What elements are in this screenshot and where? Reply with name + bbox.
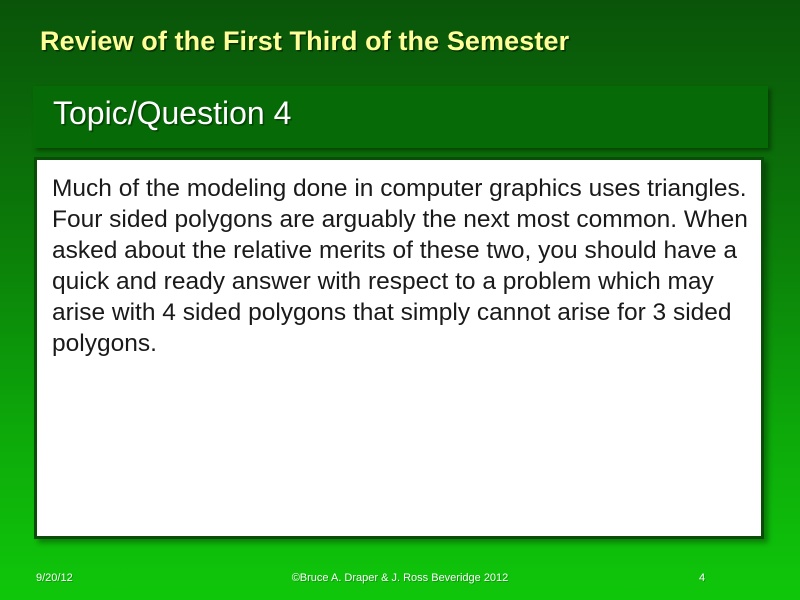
body-paragraph: Much of the modeling done in computer gr… bbox=[52, 173, 749, 359]
subtitle-text: Topic/Question 4 bbox=[53, 95, 291, 132]
slide-title: Review of the First Third of the Semeste… bbox=[40, 26, 760, 57]
subtitle-panel: Topic/Question 4 bbox=[33, 86, 768, 148]
content-box: Much of the modeling done in computer gr… bbox=[34, 157, 764, 539]
slide-canvas: Review of the First Third of the Semeste… bbox=[0, 0, 800, 600]
footer-page-number: 4 bbox=[302, 572, 800, 584]
